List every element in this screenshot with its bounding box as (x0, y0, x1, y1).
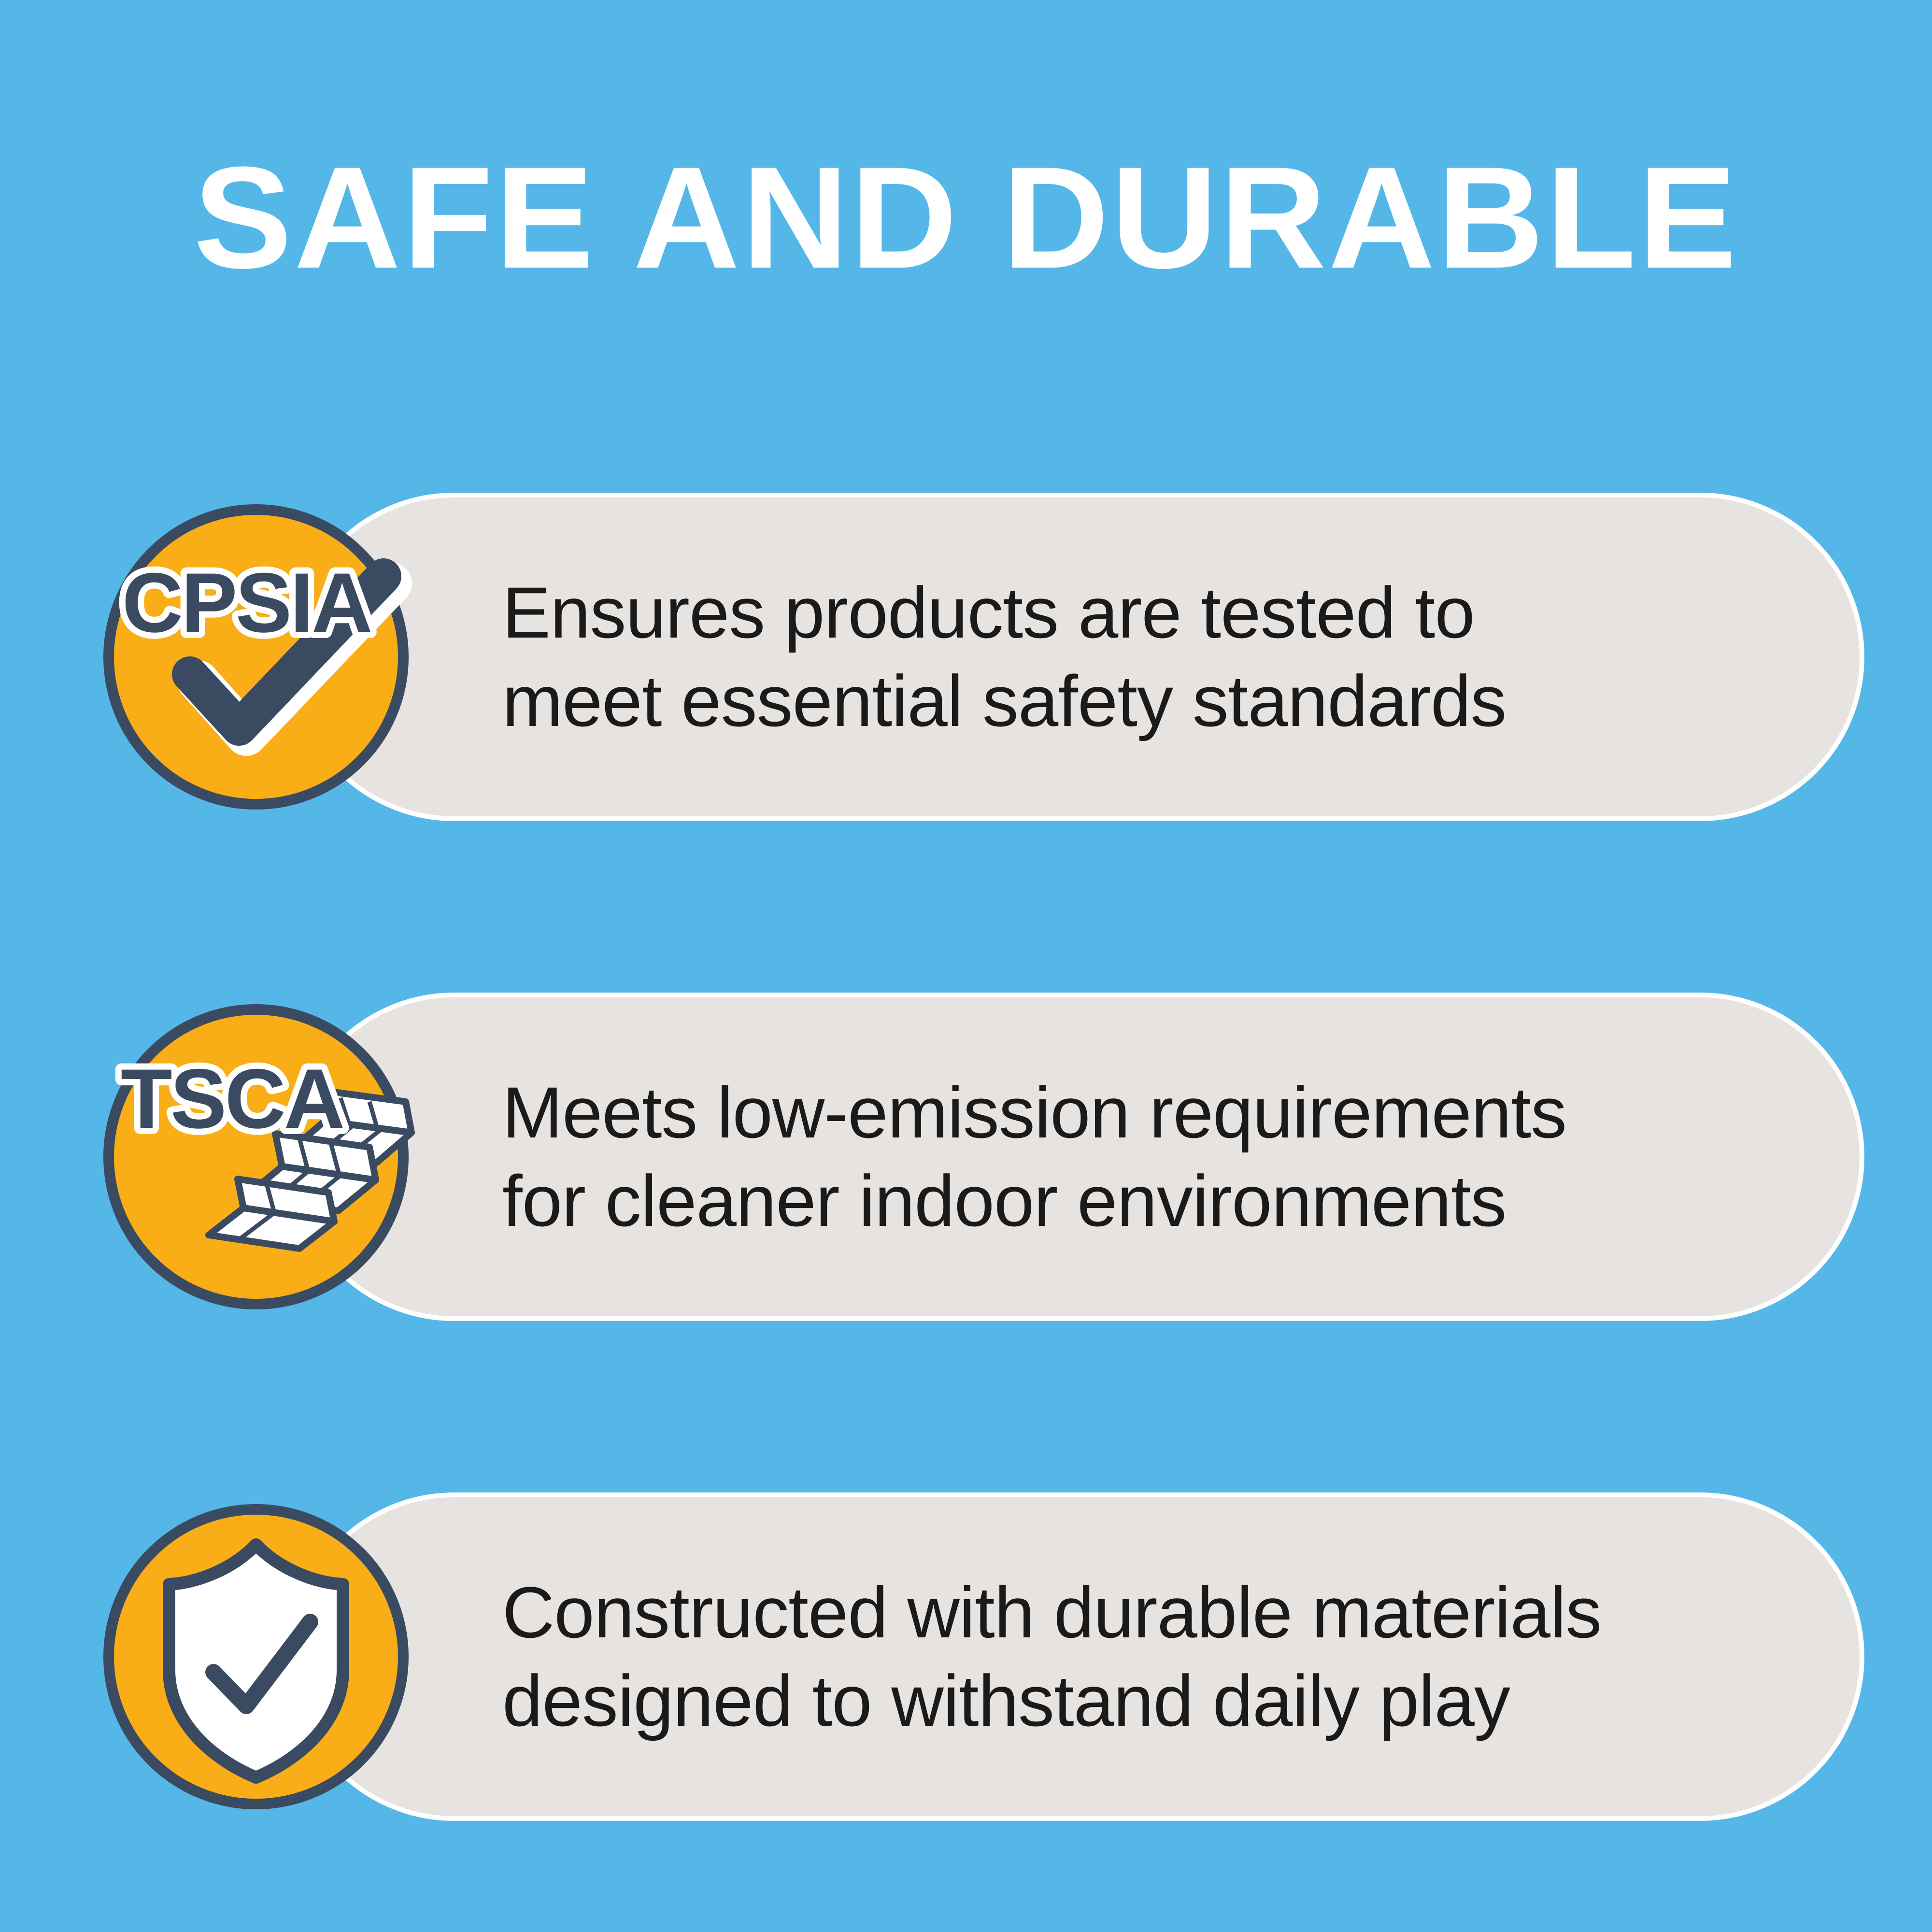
badge-durability[interactable] (87, 1488, 425, 1826)
feature-text-line-1: Constructed with durable materials (502, 1568, 1601, 1657)
feature-text-line-1: Ensures products are tested to (502, 568, 1506, 657)
badge-label: CPSIA (122, 556, 371, 650)
feature-card: Constructed with durable materials desig… (290, 1492, 1864, 1821)
shield-check-icon (169, 1545, 343, 1777)
feature-text-line-2: meet essential safety standards (502, 657, 1506, 745)
feature-row-cpsia: Ensures products are tested to meet esse… (0, 493, 1932, 821)
feature-text-line-2: designed to withstand daily play (502, 1657, 1601, 1745)
feature-text: Ensures products are tested to meet esse… (502, 568, 1506, 745)
feature-text-line-2: for cleaner indoor environments (502, 1157, 1566, 1245)
page-title: SAFE AND DURABLE (0, 145, 1932, 290)
badge-cpsia[interactable]: CPSIA CPSIA (87, 488, 425, 826)
feature-text: Meets low-emission requirements for clea… (502, 1068, 1566, 1245)
feature-card: Meets low-emission requirements for clea… (290, 993, 1864, 1321)
feature-card: Ensures products are tested to meet esse… (290, 493, 1864, 821)
feature-text-line-1: Meets low-emission requirements (502, 1068, 1566, 1157)
feature-list: Ensures products are tested to meet esse… (0, 493, 1932, 1821)
feature-text: Constructed with durable materials desig… (502, 1568, 1601, 1745)
feature-row-durability: Constructed with durable materials desig… (0, 1492, 1932, 1821)
feature-row-tsca: Meets low-emission requirements for clea… (0, 993, 1932, 1321)
badge-label: TSCA (121, 1052, 343, 1146)
badge-tsca[interactable]: TSCA TSCA (87, 988, 425, 1326)
